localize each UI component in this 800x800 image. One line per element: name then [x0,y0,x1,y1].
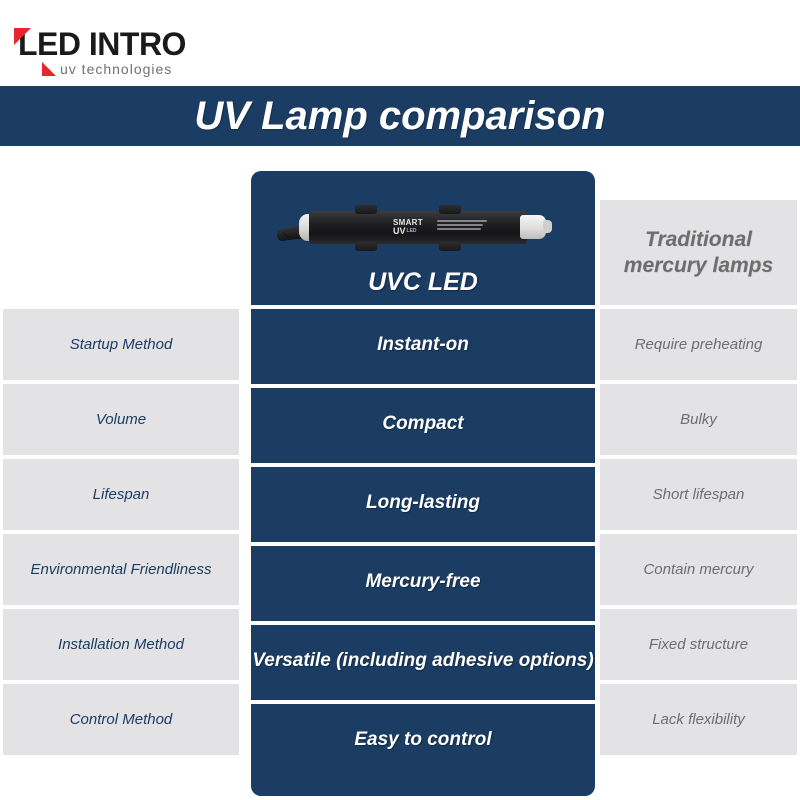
lamp-brand-label: SMART UVLED [393,219,487,237]
feature-column-header [3,200,239,305]
table-row: Volume [3,384,239,455]
mercury-header-line2: mercury lamps [624,254,773,277]
table-row: Control Method [3,684,239,755]
logo-tagline-text: uv technologies [60,62,224,77]
table-row: Versatile (including adhesive options) [251,621,595,696]
table-row: Contain mercury [600,534,797,605]
table-row: Mercury-free [251,542,595,617]
mercury-column-header: Traditional mercury lamps [600,200,797,305]
uvc-led-value: Long-lasting [366,491,480,514]
brand-header: LED INTRO uv technologies [0,0,800,86]
page-title: UV Lamp comparison [194,94,605,139]
table-row: Long-lasting [251,463,595,538]
uvc-led-value: Compact [382,412,463,435]
logo-name-text: LED INTRO [18,26,186,62]
lamp-brand-uv: UV [393,228,406,235]
uvc-led-column-header: SMART UVLED UVC LED [251,171,595,305]
table-row: Bulky [600,384,797,455]
table-row: Short lifespan [600,459,797,530]
lamp-spec-text-lines [437,220,489,232]
lamp-mount-clip [355,242,377,251]
logo-triangle-accent-icon [14,28,31,45]
mercury-column-header-label: Traditional mercury lamps [624,227,773,279]
uvc-led-lamp-image: SMART UVLED [277,197,569,259]
table-row: Lifespan [3,459,239,530]
feature-label: Control Method [70,710,173,729]
feature-label: Lifespan [93,485,150,504]
table-row: Fixed structure [600,609,797,680]
table-row: Environmental Friendliness [3,534,239,605]
table-row: Lack flexibility [600,684,797,755]
lamp-mount-clip [439,205,461,214]
table-row: Installation Method [3,609,239,680]
mercury-value: Fixed structure [649,635,748,654]
page-title-bar: UV Lamp comparison [0,86,800,146]
feature-label: Volume [96,410,146,429]
lamp-mount-clip [439,242,461,251]
mercury-value: Require preheating [635,335,763,354]
feature-label: Startup Method [70,335,173,354]
uvc-led-column-header-label: UVC LED [251,268,595,297]
mercury-value: Contain mercury [643,560,753,579]
mercury-value: Bulky [680,410,717,429]
uvc-led-value: Easy to control [354,728,491,751]
table-row: Easy to control [251,700,595,775]
lamp-mount-clip [355,205,377,214]
uvc-led-value: Instant-on [377,333,469,356]
mercury-lamp-column: Traditional mercury lamps Require prehea… [600,200,797,759]
mercury-value: Lack flexibility [652,710,745,729]
logo-tagline-row: uv technologies [14,62,224,78]
feature-label: Environmental Friendliness [31,560,212,579]
table-row: Compact [251,384,595,459]
table-row: Instant-on [251,305,595,380]
table-row: Startup Method [3,309,239,380]
uvc-led-value: Versatile (including adhesive options) [252,649,593,672]
feature-column: Startup Method Volume Lifespan Environme… [3,200,239,759]
logo-triangle-accent-small-icon [42,62,56,76]
uvc-led-values: Instant-on Compact Long-lasting Mercury-… [251,305,595,779]
mercury-value: Short lifespan [653,485,745,504]
table-row: Require preheating [600,309,797,380]
uvc-led-value: Mercury-free [365,570,480,593]
mercury-header-line1: Traditional [645,228,752,251]
feature-label: Installation Method [58,635,184,654]
lamp-outlet-nozzle [543,220,552,233]
comparison-table: Startup Method Volume Lifespan Environme… [0,146,800,800]
logo: LED INTRO uv technologies [14,28,224,78]
logo-wordmark: LED INTRO [14,28,224,60]
lamp-brand-led: LED [407,228,417,235]
uvc-led-column: SMART UVLED UVC LED Instant-on Compact L… [251,171,595,796]
